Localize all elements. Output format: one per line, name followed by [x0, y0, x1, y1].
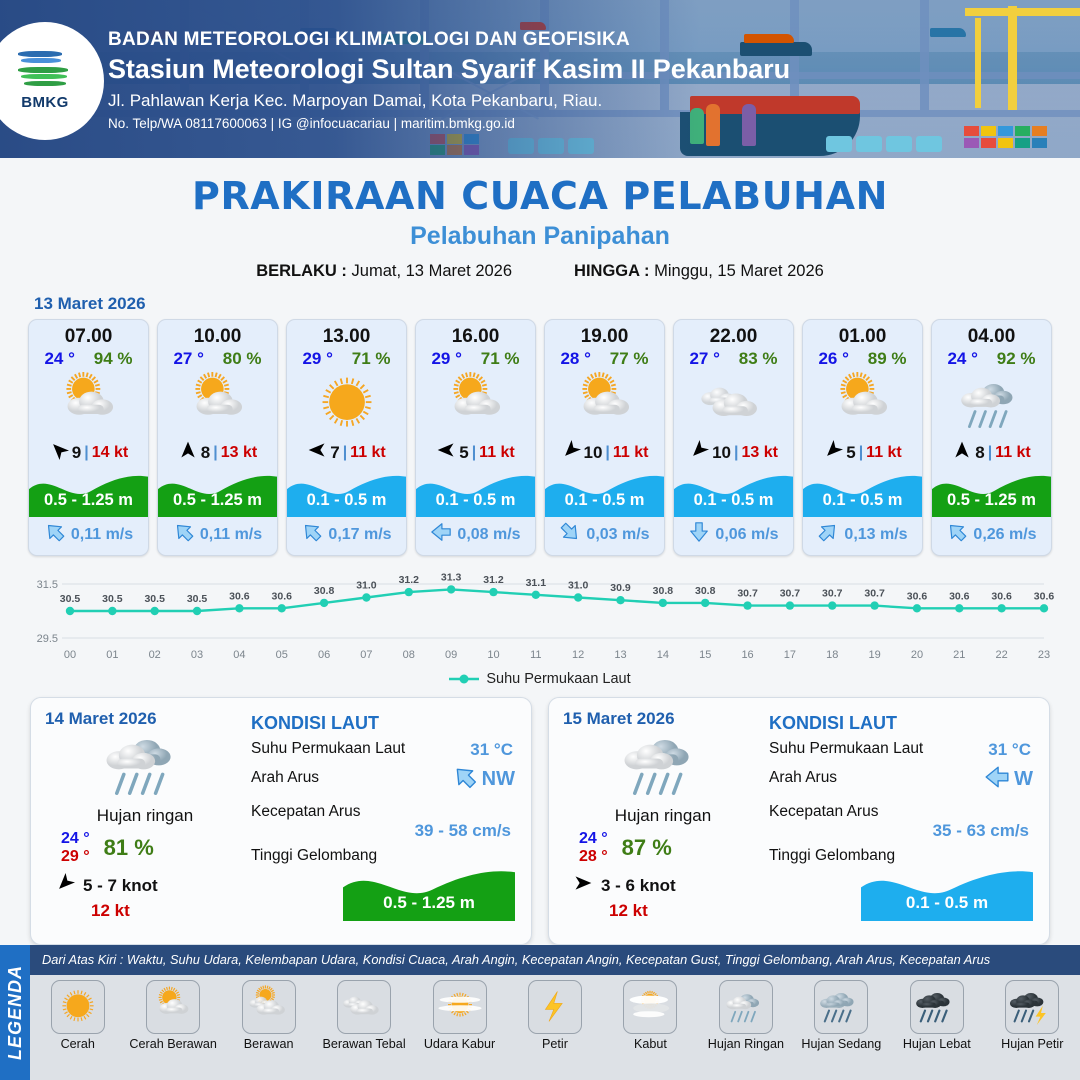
infographic-page: BMKG BADAN METEOROLOGI KLIMATOLOGI DAN G…: [0, 0, 1080, 1080]
card-wind: 8 | 11 kt: [932, 437, 1051, 469]
legend-item-label: Cerah Berawan: [129, 1037, 217, 1051]
svg-text:30.6: 30.6: [1034, 590, 1055, 602]
forecast-card[interactable]: 07.00 24 ° 94 % 9 | 14 kt 0.5 - 1.25 m 0…: [28, 319, 149, 556]
legend-item-label: Hujan Sedang: [801, 1037, 881, 1051]
card-temperature: 27 °: [689, 349, 719, 369]
wind-speed: 11 kt: [995, 444, 1031, 462]
card-time: 04.00: [932, 320, 1051, 349]
svg-text:22: 22: [996, 649, 1008, 661]
svg-text:30.6: 30.6: [907, 590, 928, 602]
wind-direction-icon: [436, 440, 456, 465]
card-wave-height: 0.5 - 1.25 m: [932, 469, 1051, 517]
current-direction-icon: [44, 521, 66, 548]
card-humidity: 71 %: [352, 349, 391, 369]
forecast-card[interactable]: 22.00 27 ° 83 % 10 | 13 kt 0.1 - 0.5 m: [673, 319, 794, 556]
panel-condition: Hujan ringan: [563, 806, 763, 826]
legend-section: LEGENDA Dari Atas Kiri : Waktu, Suhu Uda…: [0, 945, 1080, 1080]
fog-icon: [623, 980, 677, 1034]
wave-height-value: 0.1 - 0.5 m: [287, 491, 406, 510]
partly-cloudy-icon: [146, 980, 200, 1034]
wave-height-value: 0.5 - 1.25 m: [29, 491, 148, 510]
daily-forecast-panels: 14 Maret 2026 Hujan ringan 24 ° 29 ° 81 …: [0, 687, 1080, 945]
daily-panel: 15 Maret 2026 Hujan ringan 24 ° 28 ° 87 …: [548, 697, 1050, 945]
page-header: BMKG BADAN METEOROLOGI KLIMATOLOGI DAN G…: [0, 0, 1080, 158]
sea-condition-title: KONDISI LAUT: [769, 713, 1035, 734]
wind-speed: 11 kt: [479, 444, 515, 462]
wind-degree: 5: [846, 443, 855, 463]
svg-text:31.0: 31.0: [356, 580, 377, 592]
panel-temp-max: 28 °: [579, 848, 608, 866]
station-name: Stasiun Meteorologi Sultan Syarif Kasim …: [108, 53, 790, 87]
validity-range: BERLAKU : Jumat, 13 Maret 2026 HINGGA : …: [0, 262, 1080, 281]
legend-note: Dari Atas Kiri : Waktu, Suhu Udara, Kele…: [30, 945, 1080, 972]
current-direction-label: Arah Arus: [251, 769, 319, 786]
wind-speed: 14 kt: [92, 444, 128, 462]
card-wind: 10 | 11 kt: [545, 437, 664, 469]
svg-text:00: 00: [64, 649, 76, 661]
svg-text:01: 01: [106, 649, 118, 661]
hingga-value: Minggu, 15 Maret 2026: [654, 262, 824, 280]
svg-text:16: 16: [741, 649, 753, 661]
card-time: 01.00: [803, 320, 922, 349]
wind-direction-icon: [561, 440, 581, 465]
card-current: 0,17 m/s: [287, 517, 406, 555]
page-title: PRAKIRAAN CUACA PELABUHAN: [0, 174, 1080, 218]
current-speed-value: 39 - 58 cm/s: [251, 821, 511, 841]
separator: |: [859, 444, 863, 462]
current-speed-value: 35 - 63 cm/s: [769, 821, 1029, 841]
svg-text:13: 13: [614, 649, 626, 661]
svg-text:05: 05: [276, 649, 288, 661]
current-direction-icon: [817, 521, 839, 548]
legend-item: Cerah Berawan: [126, 980, 221, 1051]
svg-text:30.9: 30.9: [610, 582, 631, 594]
panel-humidity: 81 %: [104, 835, 154, 861]
legend-item-label: Kabut: [634, 1037, 667, 1051]
wind-speed: 13 kt: [741, 444, 777, 462]
sst-label: Suhu Permukaan Laut: [251, 740, 405, 757]
card-time: 07.00: [29, 320, 148, 349]
card-temperature: 29 °: [431, 349, 461, 369]
wind-direction-icon: [307, 440, 327, 465]
forecast-card[interactable]: 10.00 27 ° 80 % 8 | 13 kt 0.5 - 1.25 m 0…: [157, 319, 278, 556]
legend-item: Udara Kabur: [412, 980, 507, 1051]
legend-item-label: Hujan Petir: [1001, 1037, 1063, 1051]
card-wave-height: 0.5 - 1.25 m: [29, 469, 148, 517]
rain-icon: [45, 725, 245, 805]
wind-direction-icon: [49, 440, 69, 465]
separator: |: [84, 444, 88, 462]
partly-cloudy-icon: [545, 371, 664, 437]
card-time: 10.00: [158, 320, 277, 349]
card-time: 22.00: [674, 320, 793, 349]
card-time: 16.00: [416, 320, 535, 349]
sst-chart: 31.529.530.50030.50130.50230.50330.60430…: [22, 568, 1058, 668]
hingga-label: HINGGA :: [574, 262, 649, 280]
sst-value: 31 °C: [470, 740, 513, 760]
svg-text:07: 07: [360, 649, 372, 661]
panel-wind-speed: 3 - 6 knot: [601, 876, 676, 896]
legend-item-label: Udara Kabur: [424, 1037, 495, 1051]
card-wind: 9 | 14 kt: [29, 437, 148, 469]
panel-temp-max: 29 °: [61, 848, 90, 866]
wind-degree: 7: [330, 443, 339, 463]
card-current: 0,06 m/s: [674, 517, 793, 555]
wind-degree: 9: [72, 443, 81, 463]
card-wind: 7 | 11 kt: [287, 437, 406, 469]
forecast-card[interactable]: 13.00 29 ° 71 % 7 | 11 kt 0.1 - 0.5 m 0,…: [286, 319, 407, 556]
wind-degree: 8: [975, 443, 984, 463]
current-speed: 0,08 m/s: [457, 526, 520, 544]
svg-text:30.7: 30.7: [864, 588, 885, 600]
current-direction-label: Arah Arus: [769, 769, 837, 786]
card-humidity: 89 %: [868, 349, 907, 369]
svg-text:30.6: 30.6: [272, 590, 293, 602]
legend-item: Cerah: [30, 980, 125, 1051]
forecast-card[interactable]: 04.00 24 ° 92 % 8 | 11 kt 0.5 - 1.25: [931, 319, 1052, 556]
wave-height-value: 0.1 - 0.5 m: [545, 491, 664, 510]
wave-height-value: 0.1 - 0.5 m: [416, 491, 535, 510]
legend-item: Hujan Lebat: [889, 980, 984, 1051]
card-humidity: 83 %: [739, 349, 778, 369]
forecast-card[interactable]: 16.00 29 ° 71 % 5 | 11 kt 0.1 - 0.5 m 0,…: [415, 319, 536, 556]
card-wind: 5 | 11 kt: [803, 437, 922, 469]
cloudy-icon: [674, 371, 793, 437]
legend-item: Berawan Tebal: [317, 980, 412, 1051]
card-wave-height: 0.1 - 0.5 m: [545, 469, 664, 517]
moderate-rain-icon: [814, 980, 868, 1034]
card-humidity: 80 %: [223, 349, 262, 369]
svg-text:30.8: 30.8: [653, 585, 674, 597]
svg-text:31.1: 31.1: [526, 577, 547, 589]
svg-text:30.7: 30.7: [822, 588, 843, 600]
svg-text:06: 06: [318, 649, 330, 661]
card-wave-height: 0.1 - 0.5 m: [803, 469, 922, 517]
legend-item-label: Hujan Ringan: [708, 1037, 784, 1051]
current-speed: 0,17 m/s: [328, 526, 391, 544]
svg-text:20: 20: [911, 649, 923, 661]
svg-text:30.5: 30.5: [144, 593, 165, 605]
wave-height-label: Tinggi Gelombang: [251, 847, 377, 864]
legend-item: Kabut: [603, 980, 698, 1051]
sst-value: 31 °C: [988, 740, 1031, 760]
cloudy-sun-icon: [242, 980, 296, 1034]
svg-text:30.6: 30.6: [991, 590, 1012, 602]
logo-text: BMKG: [21, 94, 68, 111]
svg-text:31.5: 31.5: [37, 579, 58, 591]
panel-wind-speed: 5 - 7 knot: [83, 876, 158, 896]
rain-icon: [932, 371, 1051, 437]
legend-items: Cerah Cerah Berawan Berawan: [30, 975, 1080, 1080]
svg-text:14: 14: [657, 649, 669, 661]
legend-tab: LEGENDA: [0, 945, 30, 1080]
card-temperature: 27 °: [173, 349, 203, 369]
svg-text:09: 09: [445, 649, 457, 661]
panel-wave-value: 0.5 - 1.25 m: [343, 893, 515, 913]
card-wave-height: 0.1 - 0.5 m: [674, 469, 793, 517]
legend-item: Hujan Ringan: [698, 980, 793, 1051]
card-current: 0,08 m/s: [416, 517, 535, 555]
wind-degree: 8: [201, 443, 210, 463]
wind-degree: 5: [459, 443, 468, 463]
svg-text:30.7: 30.7: [737, 588, 758, 600]
current-direction-icon: [430, 521, 452, 548]
wave-height-label: Tinggi Gelombang: [769, 847, 895, 864]
chart-legend: Suhu Permukaan Laut: [0, 671, 1080, 687]
svg-text:30.5: 30.5: [102, 593, 123, 605]
card-humidity: 77 %: [610, 349, 649, 369]
svg-text:21: 21: [953, 649, 965, 661]
card-temperature: 24 °: [947, 349, 977, 369]
wind-degree: 10: [712, 443, 731, 463]
forecast-date-label: 13 Maret 2026: [34, 294, 1080, 314]
legend-item: Hujan Sedang: [794, 980, 889, 1051]
card-current: 0,11 m/s: [29, 517, 148, 555]
wind-degree: 10: [584, 443, 603, 463]
berlaku-value: Jumat, 13 Maret 2026: [352, 262, 513, 280]
svg-text:31.3: 31.3: [441, 571, 462, 583]
wind-direction-icon: [823, 440, 843, 465]
legend-item: Petir: [507, 980, 602, 1051]
current-direction-icon: [946, 521, 968, 548]
current-direction-icon: [688, 521, 710, 548]
berlaku-label: BERLAKU :: [256, 262, 347, 280]
bmkg-emblem-icon: [18, 51, 72, 93]
panel-wind-direction-icon: [573, 873, 593, 898]
partly-cloudy-icon: [158, 371, 277, 437]
svg-text:02: 02: [149, 649, 161, 661]
svg-text:23: 23: [1038, 649, 1050, 661]
panel-current-direction-icon: [984, 764, 1010, 795]
rain-icon: [563, 725, 763, 805]
light-rain-icon: [719, 980, 773, 1034]
card-temperature: 29 °: [302, 349, 332, 369]
daily-panel: 14 Maret 2026 Hujan ringan 24 ° 29 ° 81 …: [30, 697, 532, 945]
wind-direction-icon: [178, 440, 198, 465]
svg-text:30.6: 30.6: [229, 590, 250, 602]
svg-text:30.5: 30.5: [187, 593, 208, 605]
wave-height-value: 0.1 - 0.5 m: [803, 491, 922, 510]
legend-tab-label: LEGENDA: [5, 965, 26, 1060]
svg-text:30.8: 30.8: [695, 585, 716, 597]
svg-text:30.7: 30.7: [780, 588, 801, 600]
header-text-block: BADAN METEOROLOGI KLIMATOLOGI DAN GEOFIS…: [108, 28, 790, 132]
wind-direction-icon: [952, 440, 972, 465]
card-humidity: 92 %: [997, 349, 1036, 369]
card-humidity: 71 %: [481, 349, 520, 369]
separator: |: [605, 444, 609, 462]
sst-label: Suhu Permukaan Laut: [769, 740, 923, 757]
wave-height-value: 0.1 - 0.5 m: [674, 491, 793, 510]
card-time: 19.00: [545, 320, 664, 349]
legend-label: Suhu Permukaan Laut: [486, 671, 630, 687]
panel-humidity: 87 %: [622, 835, 672, 861]
wind-speed: 11 kt: [866, 444, 902, 462]
card-wind: 8 | 13 kt: [158, 437, 277, 469]
svg-text:08: 08: [403, 649, 415, 661]
partly-cloudy-icon: [416, 371, 535, 437]
cloudy-icon: [337, 980, 391, 1034]
card-wave-height: 0.5 - 1.25 m: [158, 469, 277, 517]
current-speed: 0,03 m/s: [586, 526, 649, 544]
svg-text:30.5: 30.5: [60, 593, 81, 605]
card-wave-height: 0.1 - 0.5 m: [416, 469, 535, 517]
legend-item-label: Berawan Tebal: [323, 1037, 406, 1051]
svg-text:10: 10: [487, 649, 499, 661]
separator: |: [472, 444, 476, 462]
sunny-icon: [287, 371, 406, 437]
panel-temp-min: 24 °: [579, 830, 608, 848]
panel-wind-direction-icon: [55, 873, 75, 898]
station-contact: No. Telp/WA 08117600063 | IG @infocuacar…: [108, 115, 790, 133]
panel-wave-band: 0.1 - 0.5 m: [861, 863, 1033, 921]
current-speed: 0,26 m/s: [973, 526, 1036, 544]
separator: |: [734, 444, 738, 462]
card-current: 0,11 m/s: [158, 517, 277, 555]
svg-text:29.5: 29.5: [37, 633, 58, 645]
sunny-icon: [51, 980, 105, 1034]
heavy-rain-icon: [910, 980, 964, 1034]
station-address: Jl. Pahlawan Kerja Kec. Marpoyan Damai, …: [108, 90, 790, 112]
current-direction-icon: [301, 521, 323, 548]
forecast-card[interactable]: 19.00 28 ° 77 % 10 | 11 kt 0.1 - 0.5 m 0…: [544, 319, 665, 556]
panel-wave-band: 0.5 - 1.25 m: [343, 863, 515, 921]
current-speed: 0,06 m/s: [715, 526, 778, 544]
panel-gust: 12 kt: [609, 901, 763, 921]
card-time: 13.00: [287, 320, 406, 349]
card-temperature: 24 °: [44, 349, 74, 369]
panel-temp-min: 24 °: [61, 830, 90, 848]
svg-text:04: 04: [233, 649, 245, 661]
partly-cloudy-icon: [803, 371, 922, 437]
legend-item: Berawan: [221, 980, 316, 1051]
svg-text:30.6: 30.6: [949, 590, 970, 602]
hourly-forecast-row: 07.00 24 ° 94 % 9 | 14 kt 0.5 - 1.25 m 0…: [0, 319, 1080, 556]
panel-wave-value: 0.1 - 0.5 m: [861, 893, 1033, 913]
legend-item: Hujan Petir: [985, 980, 1080, 1051]
legend-item-label: Petir: [542, 1037, 568, 1051]
card-current: 0,26 m/s: [932, 517, 1051, 555]
organization-name: BADAN METEOROLOGI KLIMATOLOGI DAN GEOFIS…: [108, 28, 790, 52]
card-wave-height: 0.1 - 0.5 m: [287, 469, 406, 517]
wind-speed: 11 kt: [350, 444, 386, 462]
wind-speed: 13 kt: [221, 444, 257, 462]
legend-item-label: Berawan: [244, 1037, 294, 1051]
svg-text:12: 12: [572, 649, 584, 661]
svg-text:15: 15: [699, 649, 711, 661]
separator: |: [343, 444, 347, 462]
svg-text:31.2: 31.2: [483, 574, 504, 586]
card-wind: 10 | 13 kt: [674, 437, 793, 469]
sea-condition-title: KONDISI LAUT: [251, 713, 517, 734]
lightning-icon: [528, 980, 582, 1034]
legend-item-label: Cerah: [61, 1037, 95, 1051]
current-direction-icon: [559, 521, 581, 548]
wind-direction-icon: [689, 440, 709, 465]
legend-body: Dari Atas Kiri : Waktu, Suhu Udara, Kele…: [30, 945, 1080, 1080]
current-direction-value: NW: [482, 768, 515, 791]
card-current: 0,13 m/s: [803, 517, 922, 555]
port-name: Pelabuhan Panipahan: [0, 222, 1080, 251]
card-wind: 5 | 11 kt: [416, 437, 535, 469]
title-block: PRAKIRAAN CUACA PELABUHAN Pelabuhan Pani…: [0, 174, 1080, 281]
current-speed: 0,13 m/s: [844, 526, 907, 544]
panel-condition: Hujan ringan: [45, 806, 245, 826]
card-humidity: 94 %: [94, 349, 133, 369]
legend-item-label: Hujan Lebat: [903, 1037, 971, 1051]
forecast-card[interactable]: 01.00 26 ° 89 % 5 | 11 kt 0.1 - 0.5 m 0,…: [802, 319, 923, 556]
wave-height-value: 0.5 - 1.25 m: [932, 491, 1051, 510]
current-direction-value: W: [1014, 768, 1033, 791]
separator: |: [213, 444, 217, 462]
svg-text:11: 11: [530, 649, 541, 661]
card-current: 0,03 m/s: [545, 517, 664, 555]
card-temperature: 28 °: [560, 349, 590, 369]
panel-current-direction-icon: [452, 764, 478, 795]
separator: |: [988, 444, 992, 462]
svg-text:18: 18: [826, 649, 838, 661]
svg-text:31.2: 31.2: [399, 574, 420, 586]
svg-text:19: 19: [868, 649, 880, 661]
legend-marker-icon: [449, 673, 479, 685]
current-speed: 0,11 m/s: [71, 526, 133, 544]
current-speed-label: Kecepatan Arus: [769, 803, 878, 820]
current-speed-label: Kecepatan Arus: [251, 803, 360, 820]
wind-speed: 11 kt: [613, 444, 649, 462]
current-speed: 0,11 m/s: [200, 526, 262, 544]
svg-text:31.0: 31.0: [568, 580, 589, 592]
card-temperature: 26 °: [818, 349, 848, 369]
current-direction-icon: [173, 521, 195, 548]
svg-text:30.8: 30.8: [314, 585, 335, 597]
haze-icon: [433, 980, 487, 1034]
wave-height-value: 0.5 - 1.25 m: [158, 491, 277, 510]
panel-gust: 12 kt: [91, 901, 245, 921]
thunderstorm-icon: [1005, 980, 1059, 1034]
svg-text:03: 03: [191, 649, 203, 661]
svg-text:17: 17: [784, 649, 796, 661]
partly-cloudy-icon: [29, 371, 148, 437]
